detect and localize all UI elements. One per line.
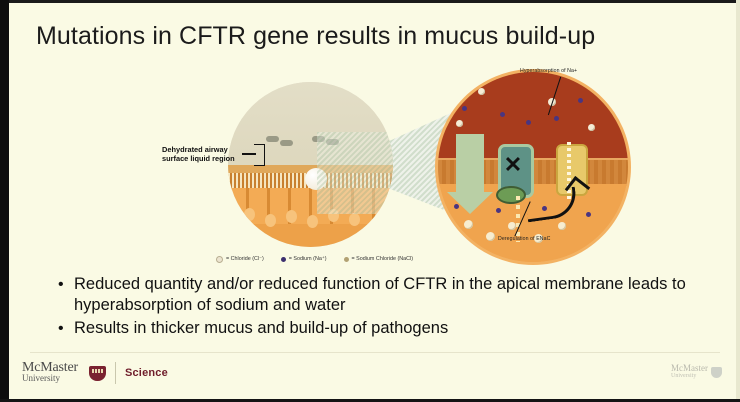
mcmaster-brand-logo: McMaster University Science — [22, 362, 168, 384]
sodium-chloride-dot-icon — [344, 257, 349, 262]
sodium-ion — [462, 106, 467, 111]
cftr-mucus-diagram: Dehydrated airway surface liquid region … — [150, 60, 670, 265]
legend-label-chloride: = Chloride (Cl⁻) — [226, 256, 264, 262]
list-item: • Reduced quantity and/or reduced functi… — [58, 274, 698, 316]
cytoplasm-ion — [486, 232, 495, 241]
hyperabsorption-arrow-head — [447, 192, 493, 214]
bullet-list: • Reduced quantity and/or reduced functi… — [58, 274, 698, 341]
chloride-dot-icon — [216, 256, 223, 263]
cytoplasm-ion — [558, 222, 566, 230]
bullet-text: Results in thicker mucus and build-up of… — [74, 318, 698, 339]
chloride-ion — [456, 120, 463, 127]
watermark-line1: McMaster — [671, 364, 708, 373]
cell-nucleus — [307, 215, 318, 228]
cell-nucleus — [265, 214, 276, 227]
cell-nucleus — [286, 210, 297, 223]
deregulation-annotation: Deregulation of ENaC — [498, 236, 550, 242]
legend-item-sodium: = Sodium (Na⁺) — [281, 256, 327, 262]
magnified-membrane-illustration: ✕ — [438, 72, 628, 262]
airway-vesicle — [266, 136, 279, 142]
cytoplasm-ion — [508, 222, 516, 230]
cell-nucleus — [349, 213, 360, 226]
airway-epithelium-illustration — [228, 82, 393, 247]
bullet-marker: • — [58, 274, 74, 295]
bullet-marker: • — [58, 318, 74, 339]
hyperabsorption-annotation: Hyperabsorption of Na+ — [520, 68, 577, 74]
university-wordmark: McMaster University — [22, 363, 78, 383]
list-item: • Results in thicker mucus and build-up … — [58, 318, 698, 339]
ion-legend: = Chloride (Cl⁻) = Sodium (Na⁺) = Sodium… — [216, 252, 516, 266]
sodium-ion — [578, 98, 583, 103]
mcmaster-watermark: McMaster University — [671, 364, 722, 380]
dehydrated-asl-label: Dehydrated airway surface liquid region — [162, 145, 254, 163]
footer-divider — [30, 352, 720, 353]
watermark-line2: University — [671, 373, 708, 380]
university-name-line2: University — [22, 373, 78, 383]
chloride-ion — [478, 88, 485, 95]
sodium-ion — [586, 212, 591, 217]
legend-item-sodium-chloride: = Sodium Chloride (NaCl) — [344, 256, 414, 262]
sodium-ion — [454, 204, 459, 209]
mcmaster-crest-icon — [89, 366, 106, 381]
slide-right-border — [736, 0, 740, 402]
watermark-wordmark: McMaster University — [671, 364, 708, 380]
slide-top-border — [0, 0, 740, 3]
cytoplasm-ion — [464, 220, 473, 229]
slide-left-border — [0, 0, 9, 402]
sodium-ion — [496, 208, 501, 213]
legend-label-sodium: = Sodium (Na⁺) — [289, 256, 327, 262]
presentation-slide: Mutations in CFTR gene results in mucus … — [0, 0, 740, 402]
chloride-ion — [588, 124, 595, 131]
cftr-channel-base — [496, 186, 526, 204]
sodium-ion — [554, 116, 559, 121]
bullet-text: Reduced quantity and/or reduced function… — [74, 274, 698, 316]
channel-blocked-x-icon: ✕ — [502, 154, 524, 176]
label-bracket — [254, 144, 265, 166]
brand-divider — [115, 362, 116, 384]
slide-title: Mutations in CFTR gene results in mucus … — [36, 22, 696, 51]
magnifier-overlap-tint — [317, 132, 393, 215]
watermark-crest-icon — [711, 367, 722, 378]
sodium-dot-icon — [281, 257, 286, 262]
cell-nucleus — [244, 208, 255, 221]
faculty-name: Science — [125, 367, 168, 379]
university-name-line1: McMaster — [22, 363, 78, 373]
sodium-ion — [500, 112, 505, 117]
sodium-ion — [542, 206, 547, 211]
airway-vesicle — [280, 140, 293, 146]
legend-label-sodium-chloride: = Sodium Chloride (NaCl) — [352, 256, 414, 262]
hyperabsorption-arrow-shaft — [456, 134, 484, 196]
legend-item-chloride: = Chloride (Cl⁻) — [216, 256, 264, 263]
sodium-ion — [526, 120, 531, 125]
